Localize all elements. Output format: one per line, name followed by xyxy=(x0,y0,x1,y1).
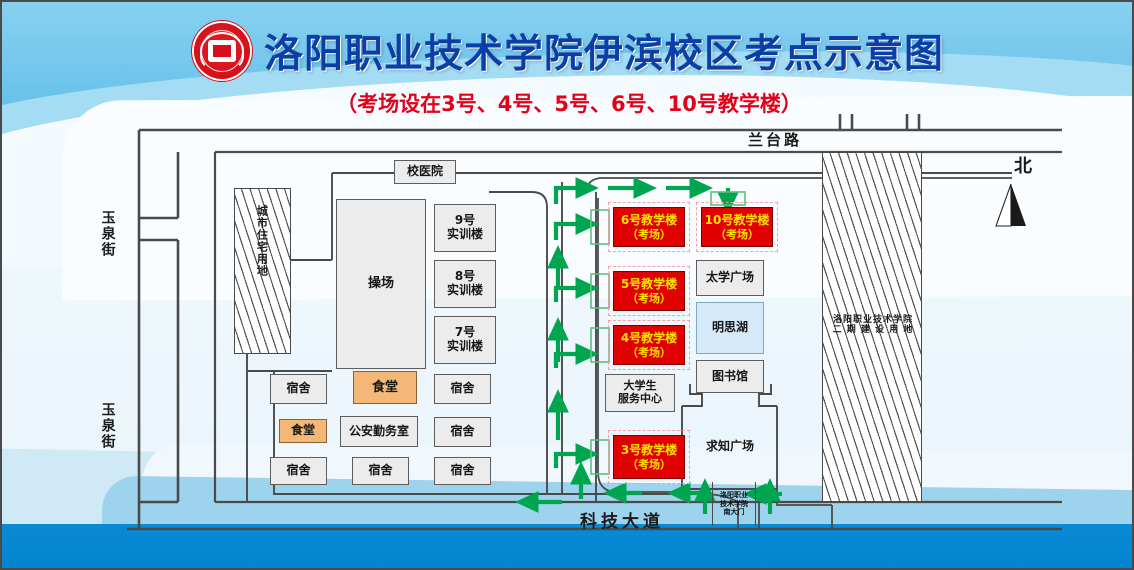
building-dorm-1[interactable]: 宿舍 xyxy=(270,374,327,404)
building-dorm-3[interactable]: 宿舍 xyxy=(434,417,491,447)
exam-hall-6-wrapper[interactable]: 6号教学楼 （考场） xyxy=(608,202,690,252)
exam-hall-6: 6号教学楼 （考场） xyxy=(613,207,685,247)
exam-hall-5: 5号教学楼 （考场） xyxy=(613,271,685,311)
exam-hall-3-name: 3号教学楼 xyxy=(621,443,677,457)
exam-hall-6-name: 6号教学楼 xyxy=(621,213,677,227)
feature-mingsi-lake[interactable]: 明思湖 xyxy=(696,302,764,354)
building-train-7[interactable]: 7号实训楼 xyxy=(434,316,496,364)
parcel-city-residential-label: 城市住宅用地 xyxy=(255,205,267,277)
page-subtitle: （考场设在3号、4号、5号、6号、10号教学楼） xyxy=(2,88,1134,118)
road-label-yuquan-lower: 玉泉街 xyxy=(99,402,115,450)
exam-hall-10-name: 10号教学楼 xyxy=(705,213,770,227)
parcel-phase2-label: 洛阳职业技术学院二 期 建 设 用 地 xyxy=(825,315,921,335)
building-dorm-5[interactable]: 宿舍 xyxy=(352,457,409,485)
exam-site-map-poster: 洛阳职业技术学院伊滨校区考点示意图 （考场设在3号、4号、5号、6号、10号教学… xyxy=(0,0,1134,570)
road-label-yuquan-upper: 玉泉街 xyxy=(99,210,115,258)
exam-hall-3-note: （考场） xyxy=(627,458,671,471)
building-train-8[interactable]: 8号实训楼 xyxy=(434,260,496,308)
building-clinic[interactable]: 校医院 xyxy=(394,160,456,184)
title-row: 洛阳职业技术学院伊滨校区考点示意图 xyxy=(2,20,1134,82)
exam-hall-10-wrapper[interactable]: 10号教学楼 （考场） xyxy=(696,202,778,252)
building-dorm-4[interactable]: 宿舍 xyxy=(270,457,327,485)
exam-hall-4: 4号教学楼 （考场） xyxy=(613,325,685,365)
exam-hall-4-note: （考场） xyxy=(627,346,671,359)
exam-hall-10-note: （考场） xyxy=(715,228,759,241)
road-label-lantai: 兰台路 xyxy=(748,132,802,149)
building-student-service-center[interactable]: 大学生服务中心 xyxy=(605,374,675,412)
building-dorm-2[interactable]: 宿舍 xyxy=(434,374,491,404)
exam-hall-5-wrapper[interactable]: 5号教学楼 （考场） xyxy=(608,266,690,316)
exam-hall-6-note: （考场） xyxy=(627,228,671,241)
road-label-keji: 科技大道 xyxy=(580,513,664,532)
building-train-9[interactable]: 9号实训楼 xyxy=(434,204,496,252)
exam-hall-4-name: 4号教学楼 xyxy=(621,331,677,345)
compass-needle-icon xyxy=(990,180,1032,232)
exam-hall-10: 10号教学楼 （考场） xyxy=(701,207,773,247)
exam-hall-5-name: 5号教学楼 xyxy=(621,277,677,291)
school-emblem-icon xyxy=(194,23,250,79)
campus-south-gate[interactable]: 洛阳职业技术学院南大门 xyxy=(712,482,756,526)
building-library[interactable]: 图书馆 xyxy=(696,360,764,393)
exam-hall-4-wrapper[interactable]: 4号教学楼 （考场） xyxy=(608,320,690,370)
exam-hall-3-wrapper[interactable]: 3号教学楼 （考场） xyxy=(608,430,690,484)
building-qiuzhi-square[interactable]: 求知广场 xyxy=(688,407,772,487)
building-playground[interactable]: 操场 xyxy=(336,199,426,369)
building-canteen-1[interactable]: 食堂 xyxy=(353,371,417,404)
building-taixue-square[interactable]: 太学广场 xyxy=(696,260,764,296)
page-title: 洛阳职业技术学院伊滨校区考点示意图 xyxy=(264,23,944,79)
building-canteen-2[interactable]: 食堂 xyxy=(279,419,327,443)
exam-hall-5-note: （考场） xyxy=(627,292,671,305)
exam-hall-3: 3号教学楼 （考场） xyxy=(613,435,685,479)
building-dorm-6[interactable]: 宿舍 xyxy=(434,457,491,485)
building-police-office[interactable]: 公安勤务室 xyxy=(340,416,418,447)
compass-label: 北 xyxy=(1014,157,1032,177)
